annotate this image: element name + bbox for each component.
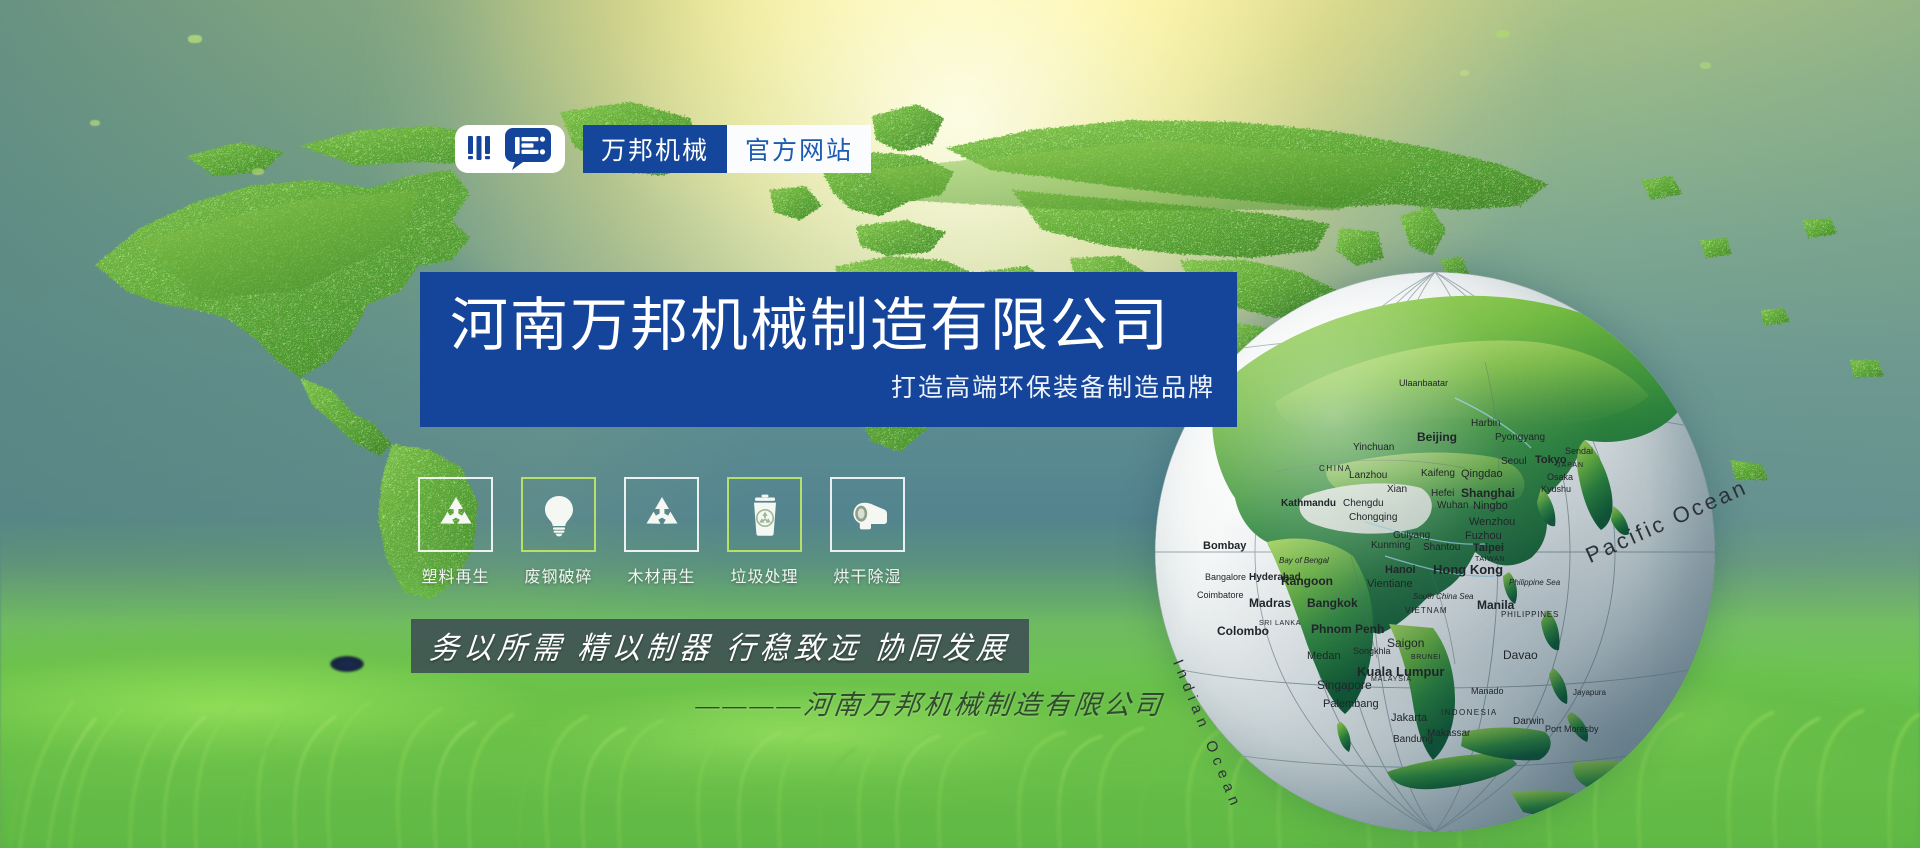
dryer-drum-icon bbox=[846, 493, 890, 537]
slogan-ribbon: 务以所需 精以制器 行稳致远 协同发展 bbox=[411, 619, 1029, 673]
logo-speech-bubble-e-mark bbox=[504, 127, 552, 171]
slogan-signature: ————河南万邦机械制造有限公司 bbox=[658, 683, 1203, 722]
floating-speck bbox=[252, 168, 264, 175]
logo-pill[interactable] bbox=[455, 125, 565, 173]
floating-speck bbox=[1460, 70, 1469, 76]
floating-speck bbox=[1700, 62, 1711, 69]
feature-icon-frame[interactable] bbox=[830, 477, 905, 552]
recycle-icon bbox=[434, 493, 478, 537]
tab-brand-name[interactable]: 万邦机械 bbox=[583, 125, 727, 173]
brand-tabs[interactable]: 万邦机械 官方网站 bbox=[583, 125, 871, 173]
feature-label: 烘干除湿 bbox=[833, 563, 901, 587]
feature-label: 废钢破碎 bbox=[524, 563, 592, 587]
feature-icon-row[interactable]: 塑料再生 废钢破碎 木材再生 bbox=[418, 477, 905, 587]
feature-item-plastic-recycling[interactable]: 塑料再生 bbox=[418, 477, 493, 587]
feature-icon-frame[interactable] bbox=[521, 477, 596, 552]
feature-icon-frame[interactable] bbox=[418, 477, 493, 552]
feature-label: 木材再生 bbox=[627, 563, 695, 587]
page-title: 河南万邦机械制造有限公司 bbox=[450, 295, 1215, 356]
insect-speck bbox=[330, 656, 364, 672]
feature-icon-frame[interactable] bbox=[624, 477, 699, 552]
main-banner: 河南万邦机械制造有限公司 打造高端环保装备制造品牌 bbox=[420, 272, 1237, 427]
floating-speck bbox=[90, 120, 100, 126]
lightbulb-icon bbox=[537, 493, 581, 537]
floating-speck bbox=[1496, 30, 1510, 38]
page-subtitle: 打造高端环保装备制造品牌 bbox=[450, 368, 1215, 404]
feature-label: 垃圾处理 bbox=[730, 563, 798, 587]
globe-graphic: Ulaanbaatar Beijing Pyongyang Seoul Toky… bbox=[1155, 272, 1715, 832]
slogan-text: 务以所需 精以制器 行稳致远 协同发展 bbox=[427, 624, 1012, 669]
recycle-icon bbox=[640, 493, 684, 537]
feature-item-wood-recycling[interactable]: 木材再生 bbox=[624, 477, 699, 587]
trash-bin-recycle-icon bbox=[743, 493, 787, 537]
logo-bar[interactable]: 万邦机械 官方网站 bbox=[455, 125, 871, 173]
feature-label: 塑料再生 bbox=[421, 563, 489, 587]
feature-item-drying-dehumidifying[interactable]: 烘干除湿 bbox=[830, 477, 905, 587]
hero-banner-stage: Ulaanbaatar Beijing Pyongyang Seoul Toky… bbox=[0, 0, 1920, 848]
feature-item-waste-treatment[interactable]: 垃圾处理 bbox=[727, 477, 802, 587]
feature-item-scrap-steel-crushing[interactable]: 废钢破碎 bbox=[521, 477, 596, 587]
tab-official-site[interactable]: 官方网站 bbox=[727, 125, 871, 173]
logo-w-mark bbox=[466, 134, 500, 164]
feature-icon-frame[interactable] bbox=[727, 477, 802, 552]
floating-speck bbox=[188, 35, 202, 43]
